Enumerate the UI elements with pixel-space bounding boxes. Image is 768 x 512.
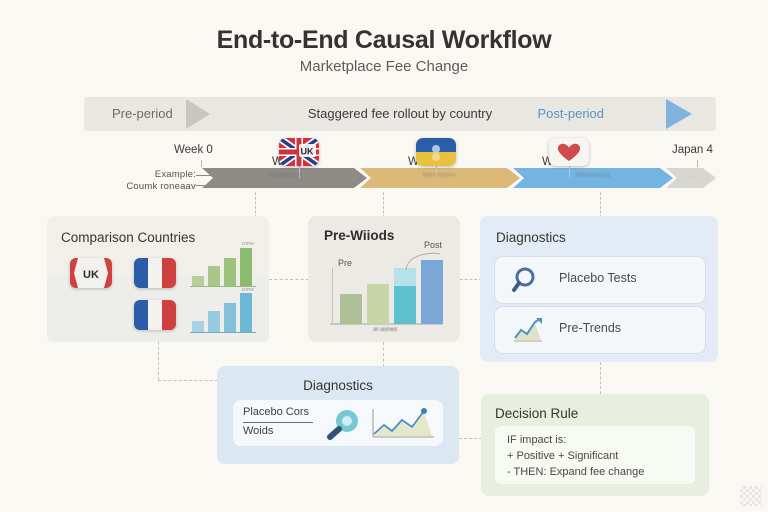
green-bar-chart: crime	[190, 246, 256, 288]
page-subtitle: Marketplace Fee Change	[0, 58, 768, 75]
phase-band: Pre-period Staggered fee rollout by coun…	[84, 97, 716, 131]
bar-pre-1	[340, 294, 362, 324]
badge-stem	[436, 166, 437, 172]
chart-baseline	[190, 332, 256, 333]
heart-badge	[549, 138, 589, 166]
diagnostics-title: Diagnostics	[496, 230, 566, 245]
france-flag	[134, 300, 176, 330]
panel-comparison-countries: Comparison Countries UK	[47, 216, 269, 342]
connector-vertical	[158, 342, 159, 380]
corner-artifact	[740, 486, 762, 506]
segment-inner-text: Varmnicx	[202, 172, 367, 179]
decision-rule-box: IF impact is: + Positive + Significant -…	[495, 426, 695, 484]
rule-line-2: + Positive + Significant	[507, 450, 618, 462]
magnifier-icon	[511, 266, 545, 294]
comparison-title: Comparison Countries	[61, 230, 195, 245]
bar	[208, 266, 220, 286]
bar-pre-2	[367, 284, 389, 324]
pre-post-bar-chart: Pre Post ar-aoned	[326, 254, 444, 332]
post-period-arrow-icon	[658, 97, 704, 131]
ukraine-flag-badge	[416, 138, 456, 166]
bar-treated	[394, 286, 416, 324]
post-period-label: Post-period	[538, 106, 604, 121]
panel-diagnostics-right: Diagnostics Placebo Tests Pre-Trends	[480, 216, 718, 362]
japan-label: Japan 4	[672, 144, 713, 156]
diagnostics-lower-content: Placebo Cors Woids	[233, 400, 443, 446]
chart-cap-label: crime	[242, 241, 254, 247]
connector-vertical	[383, 192, 384, 218]
diagnostics-lower-text-2: Woids	[243, 425, 273, 437]
bar	[224, 303, 236, 332]
blue-bar-chart: crime	[190, 292, 256, 334]
timeline-segment-pre: Varmnicx	[202, 168, 367, 188]
segment-inner-text: Wernmiao	[513, 172, 673, 179]
bar	[240, 248, 252, 286]
timeline-axis-label-1: Example:	[78, 169, 196, 180]
segment-inner-text: Weimmn+	[360, 172, 520, 179]
text-divider	[243, 422, 313, 423]
post-label: Post	[424, 240, 442, 250]
middle-title: Pre-Wiiods	[324, 228, 394, 243]
svg-text:UK: UK	[301, 147, 314, 157]
week-tick	[201, 160, 202, 167]
pre-period-arrow-icon	[184, 97, 230, 131]
panel-pre-post: Pre-Wiiods Pre Post ar-aoned	[308, 216, 460, 342]
segment-inner-text: ..	[666, 172, 716, 179]
badge-stem	[299, 166, 300, 172]
timeline-segment-uk: Weimmn+	[360, 168, 520, 188]
badge-stem	[569, 166, 570, 172]
week-tick	[697, 160, 698, 167]
rollout-label: Staggered fee rollout by country	[84, 106, 716, 121]
connector-horizontal	[269, 279, 309, 280]
timeline-axis-label-2: Coumk roneaav	[78, 181, 196, 192]
diagnostics-lower-text-1: Placebo Cors	[243, 406, 309, 418]
connector-vertical	[600, 192, 601, 218]
pre-label: Pre	[338, 258, 352, 268]
diagram-canvas: End-to-End Causal Workflow Marketplace F…	[0, 0, 768, 512]
trend-chart-icon	[511, 316, 545, 344]
bar	[192, 276, 204, 286]
chart-y-axis	[332, 268, 333, 324]
diagnostic-label: Placebo Tests	[559, 271, 637, 285]
decision-rule-title: Decision Rule	[495, 406, 578, 421]
panel-diagnostics-lower: Diagnostics Placebo Cors Woids	[217, 366, 459, 464]
diagnostic-pre-trends[interactable]: Pre-Trends	[494, 306, 706, 354]
connector-vertical	[600, 362, 601, 394]
panel-decision-rule: Decision Rule IF impact is: + Positive +…	[481, 394, 709, 496]
week-label-0: Week 0	[174, 144, 213, 156]
timeline: Example: Coumk roneaav Varmnicx Weimmn+ …	[84, 138, 716, 196]
france-flag	[134, 258, 176, 288]
timeline-segment-ua: Wernmiao	[513, 168, 673, 188]
rule-line-3: - THEN: Expand fee change	[507, 466, 644, 478]
post-callout-arc	[404, 250, 444, 272]
connector-horizontal	[459, 438, 482, 439]
diagnostic-label: Pre-Trends	[559, 321, 621, 335]
page-title: End-to-End Causal Workflow	[0, 26, 768, 55]
uk-flag-badge: UK	[279, 138, 319, 166]
bar	[192, 321, 204, 332]
diagnostic-placebo-tests[interactable]: Placebo Tests	[494, 256, 706, 304]
rule-line-1: IF impact is:	[507, 434, 566, 446]
uk-flag: UK	[70, 258, 112, 288]
line-chart-icon	[368, 405, 438, 446]
connector-horizontal	[460, 279, 482, 280]
bar	[208, 311, 220, 332]
magnifier-icon	[323, 406, 365, 447]
svg-text:UK: UK	[83, 269, 99, 281]
bar	[224, 258, 236, 286]
connector-vertical	[255, 192, 256, 218]
timeline-segment-post: ..	[666, 168, 716, 188]
connector-horizontal	[158, 380, 218, 381]
chart-x-tick-label: ar-aoned	[326, 327, 444, 333]
diagnostics-lower-title: Diagnostics	[217, 378, 459, 393]
connector-vertical	[383, 342, 384, 367]
bar	[240, 293, 252, 332]
